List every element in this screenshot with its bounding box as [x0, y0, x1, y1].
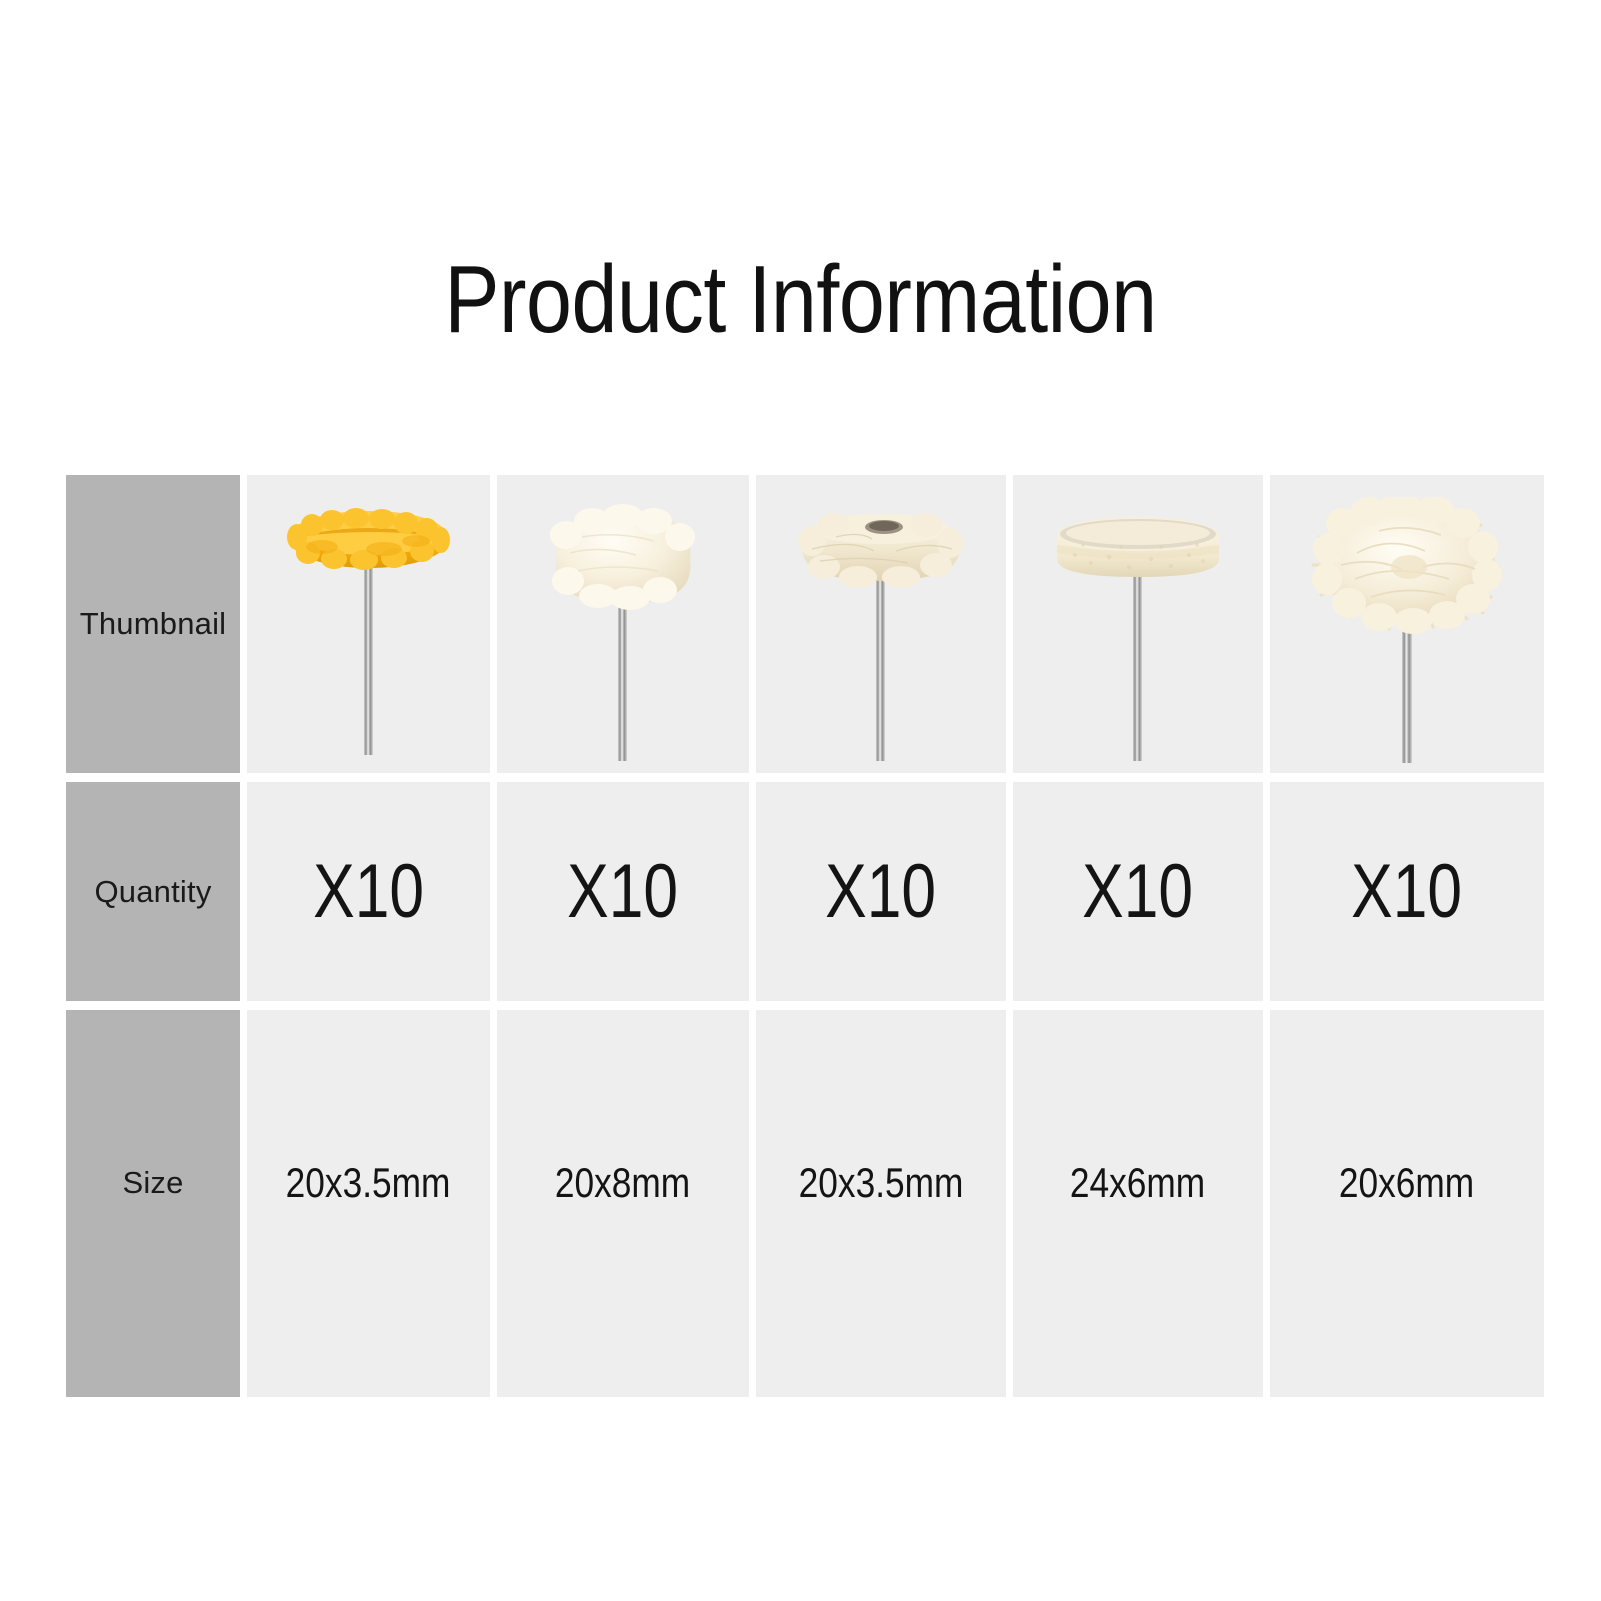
- quantity-cell-4: X10: [1013, 782, 1263, 1001]
- row-label-size: Size: [66, 1010, 240, 1397]
- felt-puck-wheel-icon: [1013, 475, 1263, 773]
- wool-ball-buffing-head-icon: [497, 475, 749, 773]
- bristle-pompom-brush-icon: [1270, 475, 1544, 773]
- size-value-5: 20x6mm: [1339, 1162, 1474, 1204]
- size-value-4: 24x6mm: [1070, 1162, 1205, 1204]
- size-cell-3: 20x3.5mm: [756, 1010, 1006, 1397]
- quantity-cell-1: X10: [247, 782, 490, 1001]
- size-cell-1: 20x3.5mm: [247, 1010, 490, 1397]
- size-value-2: 20x8mm: [555, 1162, 690, 1204]
- quantity-cell-2: X10: [497, 782, 749, 1001]
- quantity-value-3: X10: [826, 854, 937, 930]
- quantity-value-1: X10: [313, 854, 424, 930]
- size-cell-2: 20x8mm: [497, 1010, 749, 1397]
- size-value-3: 20x3.5mm: [799, 1162, 964, 1204]
- quantity-value-4: X10: [1083, 854, 1194, 930]
- quantity-value-5: X10: [1352, 854, 1463, 930]
- thumbnail-cell-3: [756, 475, 1006, 773]
- thumbnail-cell-4: [1013, 475, 1263, 773]
- quantity-value-2: X10: [568, 854, 679, 930]
- size-cell-4: 24x6mm: [1013, 1010, 1263, 1397]
- yellow-cloth-buffing-wheel-icon: [247, 475, 490, 773]
- thumbnail-cell-2: [497, 475, 749, 773]
- product-spec-table: Thumbnail: [66, 475, 1526, 1395]
- cotton-disc-wheel-icon: [756, 475, 1006, 773]
- size-value-1: 20x3.5mm: [286, 1162, 451, 1204]
- size-cell-5: 20x6mm: [1270, 1010, 1544, 1397]
- thumbnail-cell-5: [1270, 475, 1544, 773]
- page-title: Product Information: [112, 252, 1489, 348]
- row-label-quantity: Quantity: [66, 782, 240, 1001]
- row-label-thumbnail: Thumbnail: [66, 475, 240, 773]
- quantity-cell-5: X10: [1270, 782, 1544, 1001]
- thumbnail-cell-1: [247, 475, 490, 773]
- quantity-cell-3: X10: [756, 782, 1006, 1001]
